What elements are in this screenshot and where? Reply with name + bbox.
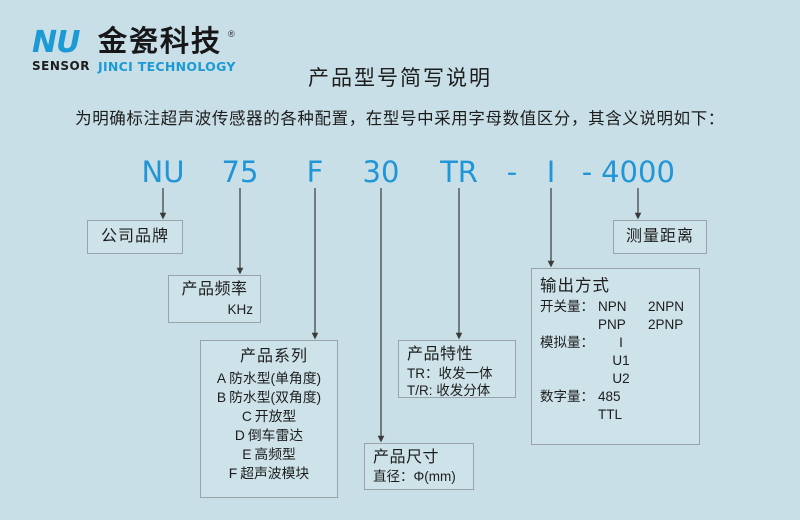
box-product-frequency: 产品频率 KHz <box>168 275 261 323</box>
output-row: U1 <box>598 352 691 370</box>
output-value: TTL <box>598 406 648 424</box>
output-value: PNP <box>598 316 648 334</box>
box-measuring-distance-title: 测量距离 <box>626 226 694 248</box>
series-item-key: E <box>242 447 251 462</box>
box-output-mode: 输出方式 开关量： NPN2NPN PNP2PNP 模拟量： I U1 U2 数… <box>531 268 700 445</box>
page-subtitle: 为明确标注超声波传感器的各种配置，在型号中采用字母数值区分，其含义说明如下： <box>0 105 800 129</box>
model-code-diagram: NU SENSOR 金瓷科技 ® JINCI TECHNOLOGY 产品型号简写… <box>0 0 800 520</box>
box-product-feature-line1: TR：收发一体 <box>407 365 507 382</box>
output-group-switch: 开关量： NPN2NPN PNP2PNP <box>540 298 691 334</box>
box-product-size-line1: 直径：Φ(mm) <box>373 468 465 486</box>
series-item: E高频型 <box>209 445 329 464</box>
model-code-segment-F: F <box>307 155 324 189</box>
model-code-segment-75: 75 <box>222 155 259 189</box>
output-group-analog: 模拟量： I U1 U2 <box>540 334 691 388</box>
output-value: U2 <box>598 370 644 388</box>
model-code-dash: - <box>582 155 592 189</box>
output-value: U1 <box>598 352 644 370</box>
output-value: 485 <box>598 388 648 406</box>
output-group-digital: 数字量： 485 TTL <box>540 388 691 424</box>
output-row: I <box>598 334 691 352</box>
box-product-feature: 产品特性 TR：收发一体 T/R: 收发分体 <box>398 340 516 398</box>
output-value: NPN <box>598 298 648 316</box>
series-item-label: 超声波模块 <box>240 466 309 481</box>
output-row: TTL <box>598 406 691 424</box>
series-item-label: 开放型 <box>255 409 296 424</box>
box-product-frequency-title: 产品频率 <box>176 279 253 301</box>
page-title: 产品型号简写说明 <box>0 62 800 92</box>
series-item-key: A <box>217 371 226 386</box>
series-item-key: D <box>235 428 245 443</box>
model-code-segment-4000: 4000 <box>601 155 675 189</box>
output-group-switch-values: NPN2NPN PNP2PNP <box>598 298 691 334</box>
box-product-feature-title: 产品特性 <box>407 344 507 365</box>
series-item-key: C <box>242 409 252 424</box>
box-product-series: 产品系列 A防水型(单角度) B防水型(双角度) C开放型 D倒车雷达 E高频型… <box>200 340 338 498</box>
model-code-segment-30: 30 <box>363 155 400 189</box>
logo-nu-mark: NU <box>32 28 79 58</box>
series-item: D倒车雷达 <box>209 426 329 445</box>
series-item: B防水型(双角度) <box>209 388 329 407</box>
model-code-segment-TR: TR <box>440 155 478 189</box>
output-group-analog-values: I U1 U2 <box>598 334 691 388</box>
box-output-mode-title: 输出方式 <box>540 274 691 298</box>
box-measuring-distance: 测量距离 <box>613 220 707 254</box>
series-item: A防水型(单角度) <box>209 369 329 388</box>
box-company-brand: 公司品牌 <box>87 220 183 254</box>
series-item-key: F <box>229 466 237 481</box>
output-row: PNP2PNP <box>598 316 691 334</box>
output-value: 2NPN <box>648 299 684 314</box>
logo-chinese-name: 金瓷科技 <box>98 26 222 58</box>
registered-trademark-icon: ® <box>228 29 235 39</box>
series-item-key: B <box>217 390 226 405</box>
model-code-dash: - <box>507 155 517 189</box>
box-product-series-title: 产品系列 <box>209 345 329 369</box>
output-group-digital-label: 数字量： <box>540 388 598 424</box>
output-group-analog-label: 模拟量： <box>540 334 598 388</box>
model-code-segment-I: I <box>547 155 556 189</box>
box-product-size-title: 产品尺寸 <box>373 447 465 468</box>
box-company-brand-title: 公司品牌 <box>101 226 169 248</box>
output-group-switch-label: 开关量： <box>540 298 598 334</box>
series-item: F超声波模块 <box>209 464 329 483</box>
box-product-size: 产品尺寸 直径：Φ(mm) <box>364 443 474 490</box>
output-row: U2 <box>598 370 691 388</box>
series-item-label: 倒车雷达 <box>248 428 303 443</box>
output-value: 2PNP <box>648 317 683 332</box>
series-item-label: 防水型(双角度) <box>229 390 321 405</box>
series-item: C开放型 <box>209 407 329 426</box>
output-row: NPN2NPN <box>598 298 691 316</box>
series-item-label: 防水型(单角度) <box>229 371 321 386</box>
output-group-digital-values: 485 TTL <box>598 388 691 424</box>
output-row: 485 <box>598 388 691 406</box>
output-value: I <box>598 334 644 352</box>
series-item-label: 高频型 <box>254 447 295 462</box>
box-product-feature-line2: T/R: 收发分体 <box>407 382 507 399</box>
model-code-segment-NU: NU <box>142 155 185 189</box>
box-product-frequency-unit: KHz <box>176 301 253 319</box>
